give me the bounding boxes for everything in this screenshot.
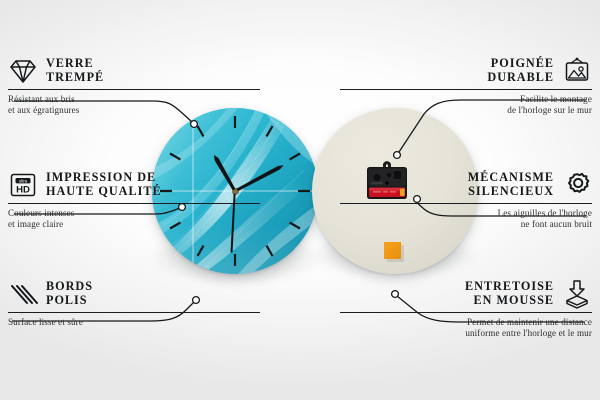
feature-header: BORDS POLIS <box>8 279 260 309</box>
feature-description: Résistant aux bris et aux égratignures <box>8 94 260 116</box>
desc-line-2: de l'horloge sur le mur <box>340 105 592 116</box>
hanging-picture-frame-icon <box>562 56 592 86</box>
feature-title: POIGNÉE DURABLE <box>487 57 554 84</box>
anchor-dot-poignee <box>394 152 401 159</box>
feature-description: Les aiguilles de l'horloge ne font aucun… <box>340 208 592 230</box>
feature-description: Couleurs intenses et image claire <box>8 208 260 230</box>
title-line-1: BORDS <box>46 280 93 294</box>
feature-title: IMPRESSION DE HAUTE QUALITÉ <box>46 171 162 198</box>
press-down-foam-icon <box>562 279 592 309</box>
feature-impression-haute-qualite: ultra HD IMPRESSION DE HAUTE QUALITÉ Cou… <box>8 170 260 231</box>
title-line-2: TREMPÉ <box>46 71 104 85</box>
feature-description: Surface lisse et sûre <box>8 317 260 328</box>
feature-header: VERRE TREMPÉ <box>8 56 260 86</box>
feature-header: ultra HD IMPRESSION DE HAUTE QUALITÉ <box>8 170 260 200</box>
feature-poignee-durable: POIGNÉE DURABLE Facilite le montage de l… <box>340 56 592 117</box>
title-line-1: VERRE <box>46 57 104 71</box>
feature-description: Permet de maintenir une distance uniform… <box>340 317 592 339</box>
feature-header: POIGNÉE DURABLE <box>340 56 592 86</box>
icon-label-hd: HD <box>16 185 30 196</box>
divider <box>8 203 260 204</box>
feature-bords-polis: BORDS POLIS Surface lisse et sûre <box>8 279 260 328</box>
feature-title: VERRE TREMPÉ <box>46 57 104 84</box>
anchor-dot-verre <box>191 121 198 128</box>
feature-description: Facilite le montage de l'horloge sur le … <box>340 94 592 116</box>
title-line-1: ENTRETOISE <box>465 280 554 294</box>
divider <box>340 203 592 204</box>
feature-header: MÉCANISME SILENCIEUX <box>340 170 592 200</box>
desc-line-2: et image claire <box>8 219 260 230</box>
title-line-2: SILENCIEUX <box>468 185 554 199</box>
polished-edges-icon <box>8 279 38 309</box>
desc-line-1: Facilite le montage <box>340 94 592 105</box>
desc-line-2: et aux égratignures <box>8 105 260 116</box>
infographic-canvas: VERRE TREMPÉ Résistant aux bris et aux é… <box>0 0 600 400</box>
feature-entretoise-en-mousse: ENTRETOISE EN MOUSSE Permet de maintenir… <box>340 279 592 340</box>
title-line-2: HAUTE QUALITÉ <box>46 185 162 199</box>
gear-icon <box>562 170 592 200</box>
feature-title: BORDS POLIS <box>46 280 93 307</box>
divider <box>8 89 260 90</box>
title-line-1: IMPRESSION DE <box>46 171 162 185</box>
divider <box>340 312 592 313</box>
divider <box>340 89 592 90</box>
desc-line-1: Permet de maintenir une distance <box>340 317 592 328</box>
feature-title: ENTRETOISE EN MOUSSE <box>465 280 554 307</box>
diamond-icon <box>8 56 38 86</box>
feature-title: MÉCANISME SILENCIEUX <box>468 171 554 198</box>
title-line-1: MÉCANISME <box>468 171 554 185</box>
desc-line-2: uniforme entre l'horloge et le mur <box>340 328 592 339</box>
ultra-hd-badge-icon: ultra HD <box>8 170 38 200</box>
title-line-2: EN MOUSSE <box>465 294 554 308</box>
desc-line-2: ne font aucun bruit <box>340 219 592 230</box>
feature-verre-trempe: VERRE TREMPÉ Résistant aux bris et aux é… <box>8 56 260 117</box>
title-line-2: DURABLE <box>487 71 554 85</box>
title-line-2: POLIS <box>46 294 93 308</box>
desc-line-1: Couleurs intenses <box>8 208 260 219</box>
feature-header: ENTRETOISE EN MOUSSE <box>340 279 592 309</box>
divider <box>8 312 260 313</box>
desc-line-1: Résistant aux bris <box>8 94 260 105</box>
desc-line-1: Surface lisse et sûre <box>8 317 260 328</box>
feature-mecanisme-silencieux: MÉCANISME SILENCIEUX Les aiguilles de l'… <box>340 170 592 231</box>
desc-line-1: Les aiguilles de l'horloge <box>340 208 592 219</box>
title-line-1: POIGNÉE <box>487 57 554 71</box>
icon-label-ultra: ultra <box>19 178 28 183</box>
